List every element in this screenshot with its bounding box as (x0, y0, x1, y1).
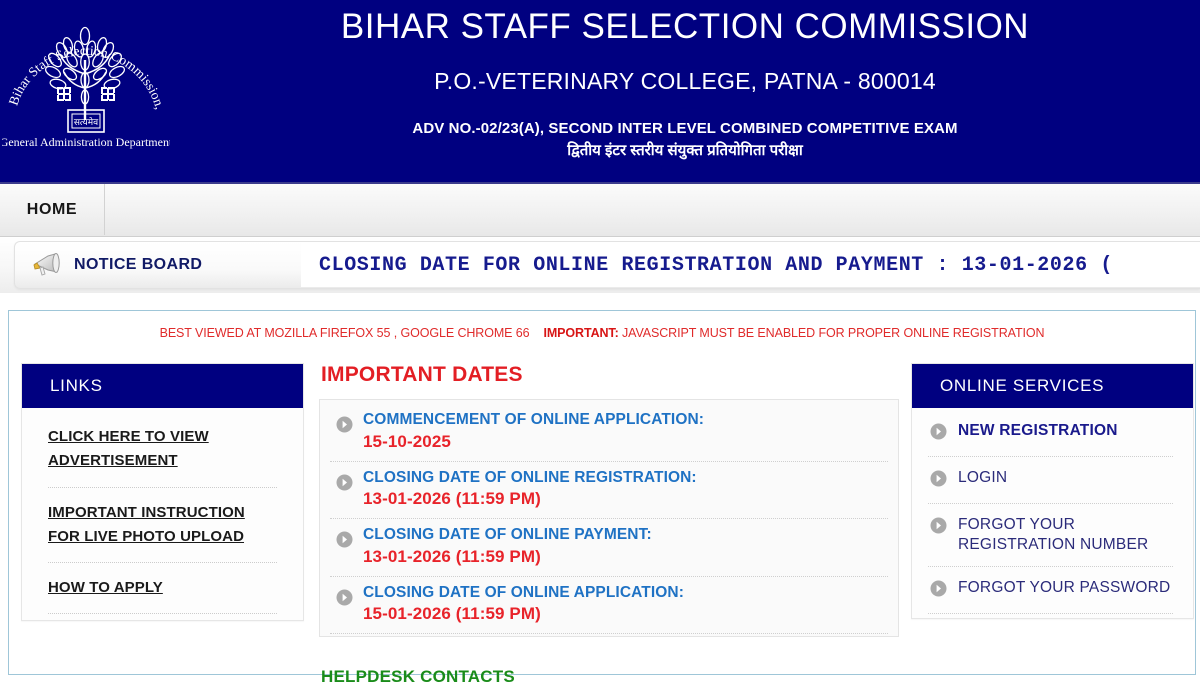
date-value: 15-10-2025 (363, 431, 704, 454)
important-dates-column: IMPORTANT DATES COMMENCEMENT OF ONLINE A… (319, 363, 899, 687)
table-row: COMMENCEMENT OF ONLINE APPLICATION: 15-1… (330, 404, 888, 462)
important-dates-panel: COMMENCEMENT OF ONLINE APPLICATION: 15-1… (319, 399, 899, 637)
date-entry: CLOSING DATE OF ONLINE REGISTRATION: 13-… (363, 468, 697, 512)
chevron-right-circle-icon (930, 423, 947, 445)
header-advertisement-hindi: द्वितीय इंटर स्तरीय संयुक्त प्रतियोगिता … (170, 136, 1200, 158)
list-item[interactable]: HOW TO APPLY (48, 563, 277, 614)
service-item-login[interactable]: LOGIN (928, 457, 1173, 504)
important-label: IMPORTANT: (543, 326, 618, 340)
notice-board-label-group: NOTICE BOARD (31, 242, 202, 288)
links-list: CLICK HERE TO VIEW ADVERTISEMENT IMPORTA… (22, 408, 303, 620)
important-dates-title: IMPORTANT DATES (321, 363, 899, 387)
megaphone-icon (31, 251, 65, 279)
chevron-right-circle-icon (930, 470, 947, 492)
site-header: Bihar Staff Selection Commission, Patna (0, 0, 1200, 182)
table-row: CLOSING DATE OF ONLINE APPLICATION: 15-0… (330, 577, 888, 635)
online-services-panel: ONLINE SERVICES NEW REGISTRATION (911, 363, 1194, 619)
links-column: LINKS CLICK HERE TO VIEW ADVERTISEMENT I… (21, 363, 304, 621)
service-item-new-registration[interactable]: NEW REGISTRATION (928, 410, 1173, 457)
notice-marquee-text: CLOSING DATE FOR ONLINE REGISTRATION AND… (301, 254, 1113, 277)
browser-compatibility-note: BEST VIEWED AT MOZILLA FIREFOX 55 , GOOG… (9, 311, 1195, 340)
link-live-photo-instruction[interactable]: IMPORTANT INSTRUCTION FOR LIVE PHOTO UPL… (48, 501, 277, 550)
service-label: FORGOT YOUR PASSWORD (958, 578, 1170, 598)
link-view-advertisement[interactable]: CLICK HERE TO VIEW ADVERTISEMENT (48, 425, 277, 474)
links-panel-title: LINKS (22, 364, 303, 408)
list-item[interactable]: IMPORTANT INSTRUCTION FOR LIVE PHOTO UPL… (48, 488, 277, 564)
svg-text:General Administration Departm: General Administration Department (2, 135, 170, 149)
date-label: CLOSING DATE OF ONLINE REGISTRATION: (363, 468, 697, 489)
chevron-right-circle-icon (930, 517, 947, 539)
online-services-column: ONLINE SERVICES NEW REGISTRATION (911, 363, 1194, 619)
page-title: BIHAR STAFF SELECTION COMMISSION (170, 0, 1200, 44)
date-value: 15-01-2026 (11:59 PM) (363, 603, 684, 626)
important-text: JAVASCRIPT MUST BE ENABLED FOR PROPER ON… (619, 326, 1045, 340)
helpdesk-contacts-title: HELPDESK CONTACTS (321, 667, 899, 687)
chevron-right-circle-icon (336, 589, 353, 611)
chevron-right-circle-icon (930, 580, 947, 602)
bssc-tree-emblem-logo: Bihar Staff Selection Commission, Patna (2, 2, 170, 152)
best-viewed-text: BEST VIEWED AT MOZILLA FIREFOX 55 , GOOG… (160, 326, 530, 340)
service-item-forgot-password[interactable]: FORGOT YOUR PASSWORD (928, 567, 1173, 614)
date-label: CLOSING DATE OF ONLINE APPLICATION: (363, 583, 684, 604)
page-root: Bihar Staff Selection Commission, Patna (0, 0, 1200, 675)
notice-marquee: CLOSING DATE FOR ONLINE REGISTRATION AND… (301, 243, 1200, 287)
header-address: P.O.-VETERINARY COLLEGE, PATNA - 800014 (170, 44, 1200, 93)
links-panel: LINKS CLICK HERE TO VIEW ADVERTISEMENT I… (21, 363, 304, 621)
notice-board-bar: NOTICE BOARD CLOSING DATE FOR ONLINE REG… (0, 237, 1200, 293)
service-label: NEW REGISTRATION (958, 421, 1118, 441)
online-services-panel-title: ONLINE SERVICES (912, 364, 1193, 408)
chevron-right-circle-icon (336, 416, 353, 438)
service-item-forgot-registration-number[interactable]: FORGOT YOUR REGISTRATION NUMBER (928, 504, 1173, 567)
date-entry: CLOSING DATE OF ONLINE PAYMENT: 13-01-20… (363, 525, 652, 569)
link-how-to-apply[interactable]: HOW TO APPLY (48, 576, 277, 600)
chevron-right-circle-icon (336, 474, 353, 496)
online-services-list: NEW REGISTRATION LOGIN (912, 408, 1193, 618)
date-value: 13-01-2026 (11:59 PM) (363, 488, 697, 511)
header-text-block: BIHAR STAFF SELECTION COMMISSION P.O.-VE… (170, 0, 1200, 182)
main-navigation: HOME (0, 182, 1200, 237)
date-entry: COMMENCEMENT OF ONLINE APPLICATION: 15-1… (363, 410, 704, 454)
table-row: CLOSING DATE OF ONLINE REGISTRATION: 13-… (330, 462, 888, 520)
notice-board-title: NOTICE BOARD (74, 256, 202, 274)
list-item[interactable]: CLICK HERE TO VIEW ADVERTISEMENT (48, 412, 277, 488)
nav-item-home[interactable]: HOME (0, 184, 105, 235)
date-label: CLOSING DATE OF ONLINE PAYMENT: (363, 525, 652, 546)
main-content-area: BEST VIEWED AT MOZILLA FIREFOX 55 , GOOG… (8, 310, 1196, 675)
chevron-right-circle-icon (336, 531, 353, 553)
service-label: FORGOT YOUR REGISTRATION NUMBER (958, 515, 1173, 555)
date-entry: CLOSING DATE OF ONLINE APPLICATION: 15-0… (363, 583, 684, 627)
header-advertisement: ADV NO.-02/23(A), SECOND INTER LEVEL COM… (170, 93, 1200, 136)
service-label: LOGIN (958, 468, 1007, 488)
date-label: COMMENCEMENT OF ONLINE APPLICATION: (363, 410, 704, 431)
date-value: 13-01-2026 (11:59 PM) (363, 546, 652, 569)
notice-board-container: NOTICE BOARD CLOSING DATE FOR ONLINE REG… (14, 241, 1200, 289)
table-row: CLOSING DATE OF ONLINE PAYMENT: 13-01-20… (330, 519, 888, 577)
svg-text:सत्यमेव: सत्यमेव (74, 116, 99, 127)
